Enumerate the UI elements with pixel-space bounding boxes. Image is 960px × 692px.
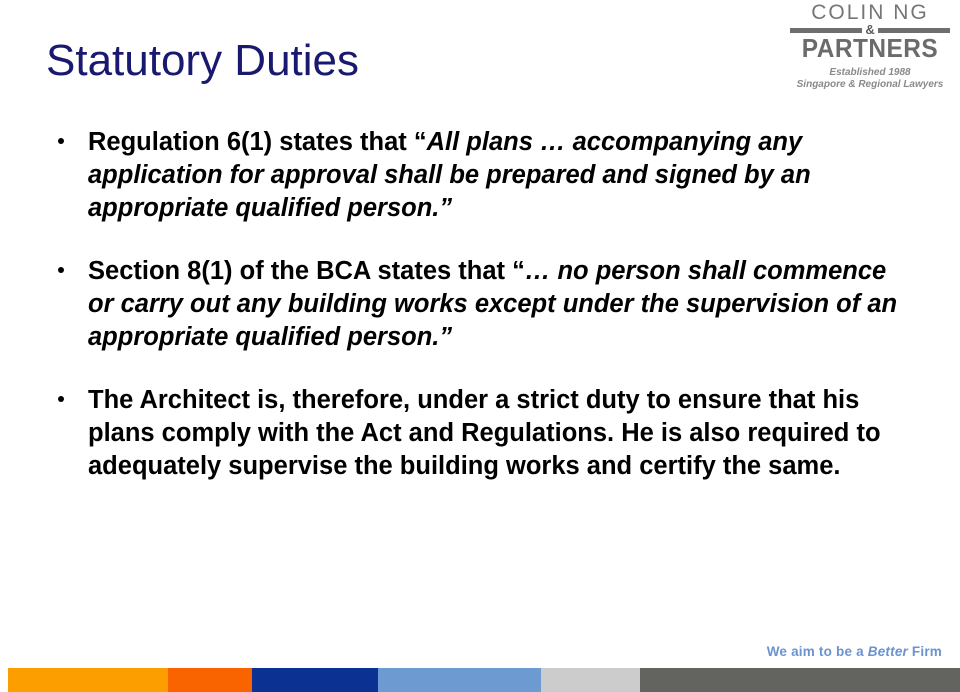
page-title: Statutory Duties [46, 34, 359, 88]
logo-descriptor: Singapore & Regional Lawyers [790, 79, 950, 91]
bullet-lead-text: The Architect is, therefore, under a str… [88, 386, 881, 480]
company-logo: COLIN NG & PARTNERS Established 1988 Sin… [790, 2, 950, 91]
footer-tagline: We aim to be a Better Firm [767, 644, 942, 659]
color-bar-segment-light-gray [541, 668, 640, 692]
color-bar-segment-dark-gray [640, 668, 960, 692]
logo-company-name: COLIN NG [790, 2, 950, 24]
bullet-dot-icon [58, 138, 64, 144]
logo-established: Established 1988 [790, 67, 950, 79]
bullet-lead-text: Regulation 6(1) states that “ [88, 128, 427, 156]
list-item: Regulation 6(1) states that “All plans …… [46, 126, 906, 225]
tagline-prefix: We aim to be a [767, 644, 868, 659]
bullet-dot-icon [58, 396, 64, 402]
logo-rule-right [878, 28, 950, 33]
footer-color-bar [0, 668, 960, 692]
bullet-dot-icon [58, 267, 64, 273]
slide-canvas: COLIN NG & PARTNERS Established 1988 Sin… [0, 0, 960, 692]
color-bar-segment-light-blue [378, 668, 541, 692]
tagline-emphasis: Better [868, 644, 908, 659]
list-item: Section 8(1) of the BCA states that “… n… [46, 255, 906, 354]
color-bar-segment-amber [0, 668, 8, 692]
bullet-lead-text: Section 8(1) of the BCA states that “ [88, 257, 525, 285]
tagline-suffix: Firm [908, 644, 942, 659]
color-bar-segment-dark-blue [252, 668, 378, 692]
logo-partners: PARTNERS [795, 35, 945, 61]
list-item: The Architect is, therefore, under a str… [46, 384, 906, 483]
logo-rule-left [790, 28, 862, 33]
slide-body: Regulation 6(1) states that “All plans …… [46, 126, 906, 483]
color-bar-segment-orange [168, 668, 252, 692]
color-bar-segment-amber [8, 668, 168, 692]
